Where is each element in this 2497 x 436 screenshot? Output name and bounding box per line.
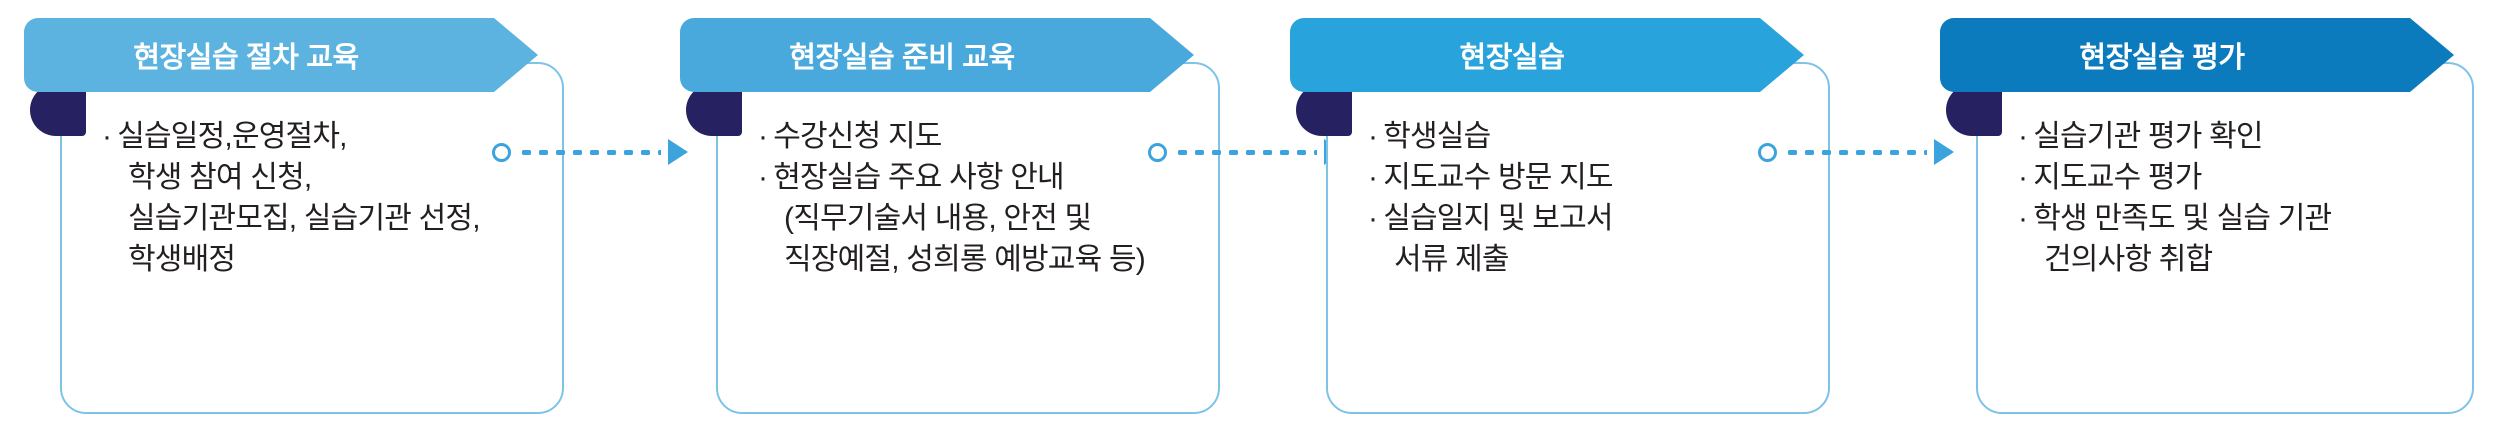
bullet-icon: ·: [1368, 161, 1383, 194]
list-item: 학생 참여 신청,: [102, 157, 536, 198]
step-2-body: ·수강신청 지도 ·현장실습 주요 사항 안내 (직무기술서 내용, 안전 및 …: [716, 62, 1220, 414]
bullet-icon: ·: [1368, 120, 1383, 153]
list-item: ·실습기관 평가 확인: [2018, 116, 2446, 157]
list-item: 직장예절, 성희롱 예방교육 등): [758, 239, 1192, 280]
step-1-header-label: 현장실습 절차 교육: [133, 34, 385, 76]
list-item: (직무기술서 내용, 안전 및: [758, 198, 1192, 239]
list-item-text: 학생배정: [128, 243, 235, 276]
chevron-right-icon: [1760, 18, 1804, 92]
process-step-card-4: ·실습기관 평가 확인 ·지도교수 평가 ·학생 만족도 및 실습 기관 건의사…: [1940, 18, 2474, 422]
list-item: 학생배정: [102, 239, 536, 280]
list-item-text: 직장예절, 성희롱 예방교육 등): [784, 243, 1145, 276]
list-item: ·수강신청 지도: [758, 116, 1192, 157]
bullet-icon: ·: [758, 120, 773, 153]
step-3-header-label: 현장실습: [1459, 34, 1590, 76]
step-1-item-list: ·실습일정,운영절차, 학생 참여 신청, 실습기관모집, 실습기관 선정, 학…: [62, 64, 562, 280]
list-item: ·지도교수 방문 지도: [1368, 157, 1802, 198]
step-3-body: ·학생실습 ·지도교수 방문 지도 ·실습일지 및 보고서 서류 제출: [1326, 62, 1830, 414]
list-item: ·실습일지 및 보고서: [1368, 198, 1802, 239]
list-item: ·학생 만족도 및 실습 기관: [2018, 198, 2446, 239]
process-step-card-1: ·실습일정,운영절차, 학생 참여 신청, 실습기관모집, 실습기관 선정, 학…: [24, 18, 564, 422]
list-item-text: 지도교수 평가: [2033, 161, 2201, 194]
list-item-text: (직무기술서 내용, 안전 및: [784, 202, 1091, 235]
list-item: 실습기관모집, 실습기관 선정,: [102, 198, 536, 239]
connector-dotted-line: [518, 150, 661, 155]
list-item: 서류 제출: [1368, 239, 1802, 280]
step-3-item-list: ·학생실습 ·지도교수 방문 지도 ·실습일지 및 보고서 서류 제출: [1328, 64, 1828, 280]
list-item-text: 실습일정,운영절차,: [117, 120, 346, 153]
step-2-item-list: ·수강신청 지도 ·현장실습 주요 사항 안내 (직무기술서 내용, 안전 및 …: [718, 64, 1218, 280]
list-item-text: 건의사항 취합: [2044, 243, 2212, 276]
step-2-header-label: 현장실습 준비 교육: [789, 34, 1041, 76]
bullet-icon: ·: [758, 161, 773, 194]
list-item-text: 서류 제출: [1394, 243, 1509, 276]
list-item-text: 지도교수 방문 지도: [1383, 161, 1612, 194]
step-1-body: ·실습일정,운영절차, 학생 참여 신청, 실습기관모집, 실습기관 선정, 학…: [60, 62, 564, 414]
connector-1-2: [492, 134, 688, 170]
list-item-text: 실습기관모집, 실습기관 선정,: [128, 202, 480, 235]
bullet-icon: ·: [2018, 120, 2033, 153]
bullet-icon: ·: [102, 120, 117, 153]
process-step-card-2: ·수강신청 지도 ·현장실습 주요 사항 안내 (직무기술서 내용, 안전 및 …: [680, 18, 1220, 422]
step-4-header[interactable]: 현장실습 평가: [1940, 18, 2410, 92]
step-3-header[interactable]: 현장실습: [1290, 18, 1760, 92]
list-item: ·실습일정,운영절차,: [102, 116, 536, 157]
list-item: 건의사항 취합: [2018, 239, 2446, 280]
chevron-right-icon: [2410, 18, 2454, 92]
connector-dotted-line: [1784, 150, 1927, 155]
bullet-icon: ·: [1368, 202, 1383, 235]
step-1-header[interactable]: 현장실습 절차 교육: [24, 18, 494, 92]
step-4-item-list: ·실습기관 평가 확인 ·지도교수 평가 ·학생 만족도 및 실습 기관 건의사…: [1978, 64, 2472, 280]
process-flow-diagram: ·실습일정,운영절차, 학생 참여 신청, 실습기관모집, 실습기관 선정, 학…: [0, 0, 2497, 436]
list-item-text: 학생실습: [1383, 120, 1490, 153]
list-item-text: 수강신청 지도: [773, 120, 941, 153]
list-item: ·지도교수 평가: [2018, 157, 2446, 198]
list-item-text: 실습기관 평가 확인: [2033, 120, 2262, 153]
step-4-body: ·실습기관 평가 확인 ·지도교수 평가 ·학생 만족도 및 실습 기관 건의사…: [1976, 62, 2474, 414]
connector-3-4: [1758, 134, 1954, 170]
connector-start-circle-icon: [1148, 143, 1167, 162]
list-item-text: 실습일지 및 보고서: [1383, 202, 1612, 235]
chevron-right-icon: [1150, 18, 1194, 92]
step-2-header[interactable]: 현장실습 준비 교육: [680, 18, 1150, 92]
bullet-icon: ·: [2018, 161, 2033, 194]
list-item-text: 현장실습 주요 사항 안내: [773, 161, 1064, 194]
bullet-icon: ·: [2018, 202, 2033, 235]
list-item-text: 학생 만족도 및 실습 기관: [2033, 202, 2331, 235]
step-4-header-label: 현장실습 평가: [2079, 34, 2270, 76]
list-item: ·학생실습: [1368, 116, 1802, 157]
list-item: ·현장실습 주요 사항 안내: [758, 157, 1192, 198]
list-item-text: 학생 참여 신청,: [128, 161, 311, 194]
connector-start-circle-icon: [1758, 143, 1777, 162]
connector-start-circle-icon: [492, 143, 511, 162]
chevron-right-icon: [494, 18, 538, 92]
process-step-card-3: ·학생실습 ·지도교수 방문 지도 ·실습일지 및 보고서 서류 제출 현장실습: [1290, 18, 1830, 422]
